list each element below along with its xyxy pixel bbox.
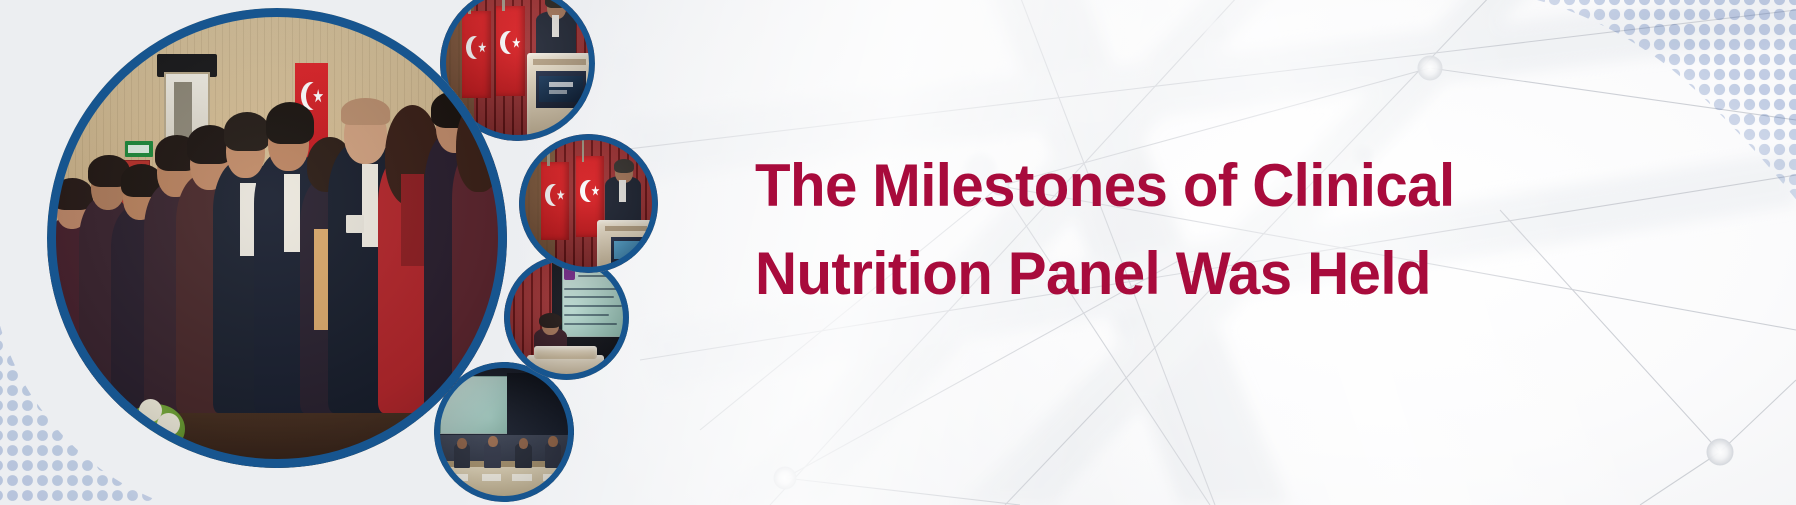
banner-title-line-1: The Milestones of Clinical [755,142,1492,230]
news-banner: The Milestones of Clinical Nutrition Pan… [0,0,1796,505]
second-speaker-photo-image [519,134,658,273]
banner-title-line-2: Nutrition Panel Was Held [755,230,1492,318]
presenter-with-slide-photo [504,255,629,380]
presenter-with-slide-photo-image [504,255,629,380]
banner-title: The Milestones of Clinical Nutrition Pan… [755,142,1515,318]
group-standing-photo [47,8,507,468]
group-standing-photo-image [47,8,507,468]
second-speaker-at-podium-photo [519,134,658,273]
